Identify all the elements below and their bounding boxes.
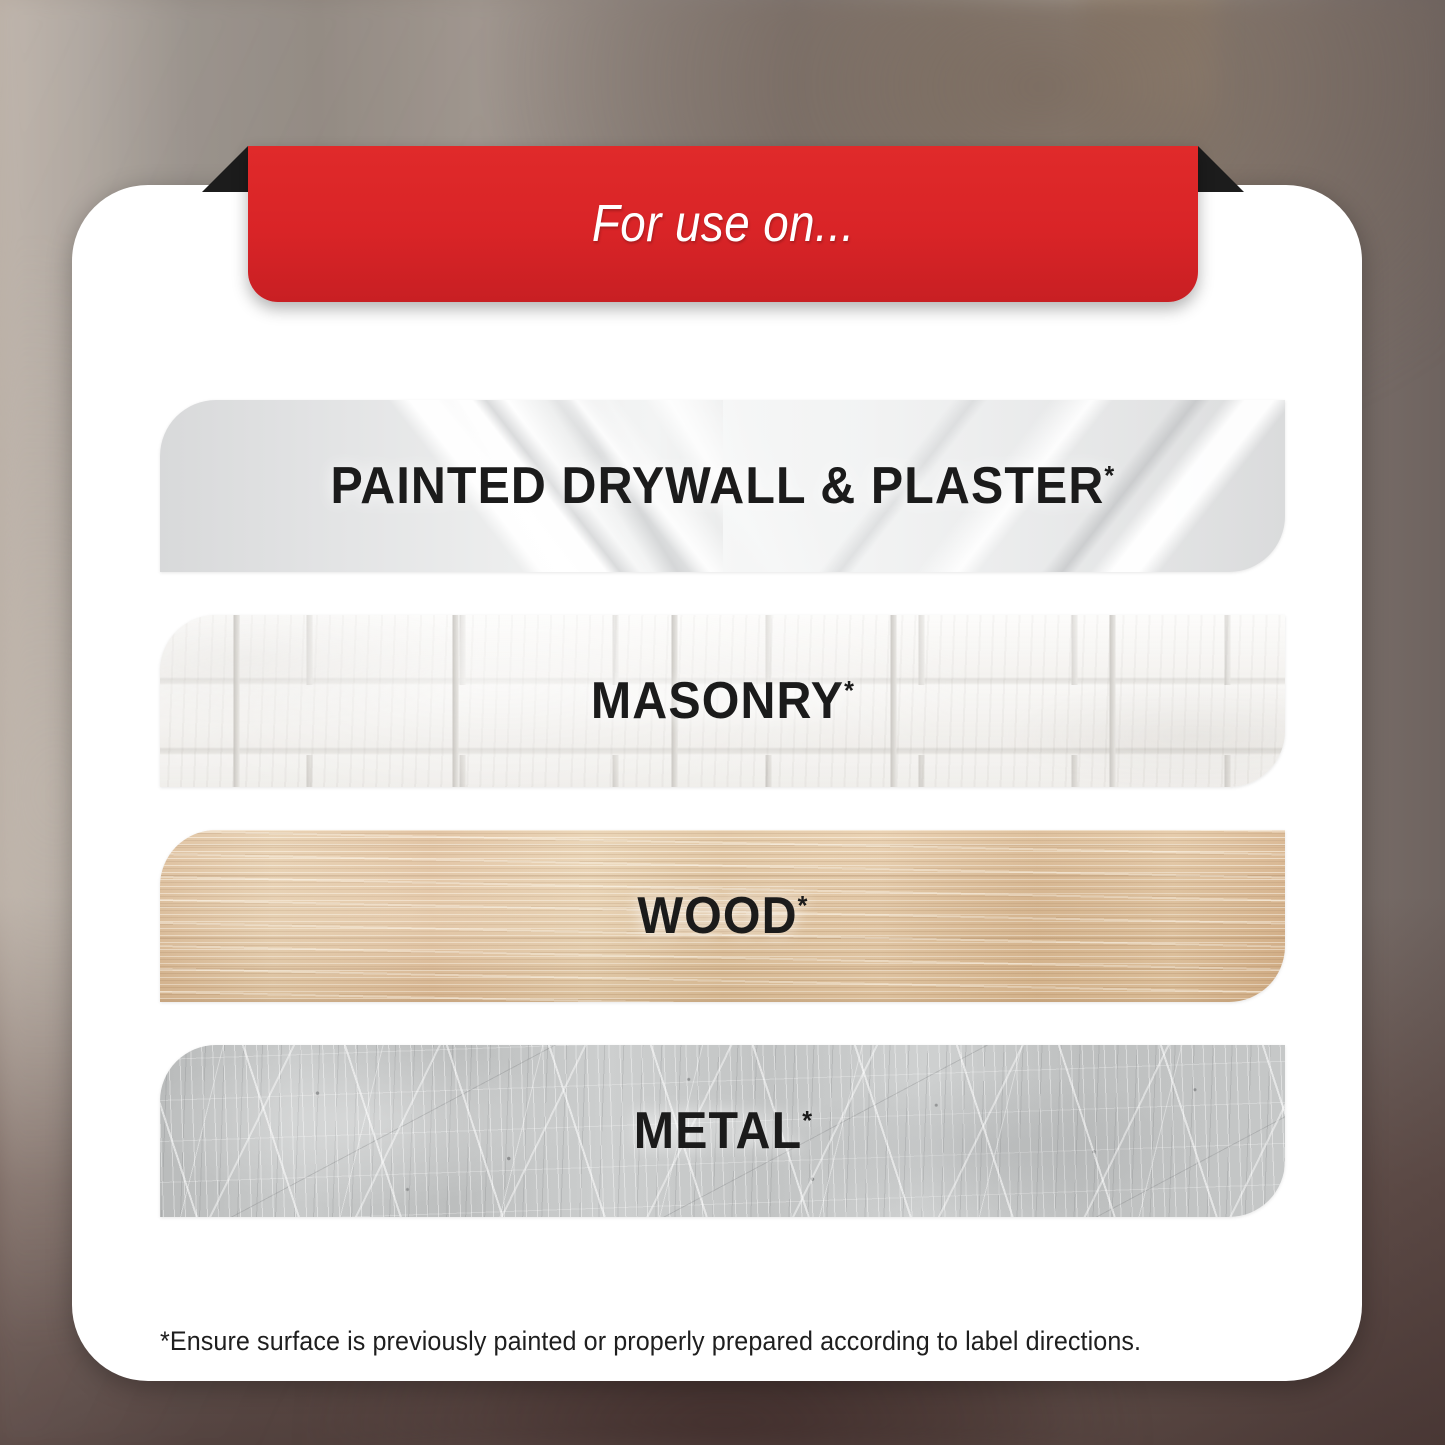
footnote-marker: * — [1105, 461, 1115, 491]
surface-label-wood: WOOD* — [637, 886, 807, 946]
banner-body: For use on... — [248, 146, 1198, 302]
surface-list: PAINTED DRYWALL & PLASTER* MASONRY* WOOD… — [160, 400, 1285, 1260]
surface-label-metal: METAL* — [633, 1101, 811, 1161]
surface-bar-painted-drywall-and-plaster: PAINTED DRYWALL & PLASTER* — [160, 400, 1285, 572]
surface-label-masonry: MASONRY* — [591, 671, 854, 731]
ribbon-banner: For use on... — [248, 146, 1198, 302]
footnote-disclaimer: *Ensure surface is previously painted or… — [160, 1326, 1202, 1357]
surface-bar-masonry: MASONRY* — [160, 615, 1285, 787]
surface-bar-metal: METAL* — [160, 1045, 1285, 1217]
footnote-marker: * — [844, 676, 854, 706]
surface-label-painted-drywall-and-plaster: PAINTED DRYWALL & PLASTER* — [331, 456, 1115, 516]
surface-label-text: WOOD — [637, 887, 797, 945]
surface-label-text: PAINTED DRYWALL & PLASTER — [331, 457, 1105, 515]
surface-label-text: MASONRY — [591, 672, 844, 730]
footnote-marker: * — [802, 1106, 812, 1136]
banner-title: For use on... — [592, 194, 855, 254]
surface-bar-wood: WOOD* — [160, 830, 1285, 1002]
footnote-marker: * — [798, 891, 808, 921]
surface-label-text: METAL — [633, 1102, 802, 1160]
